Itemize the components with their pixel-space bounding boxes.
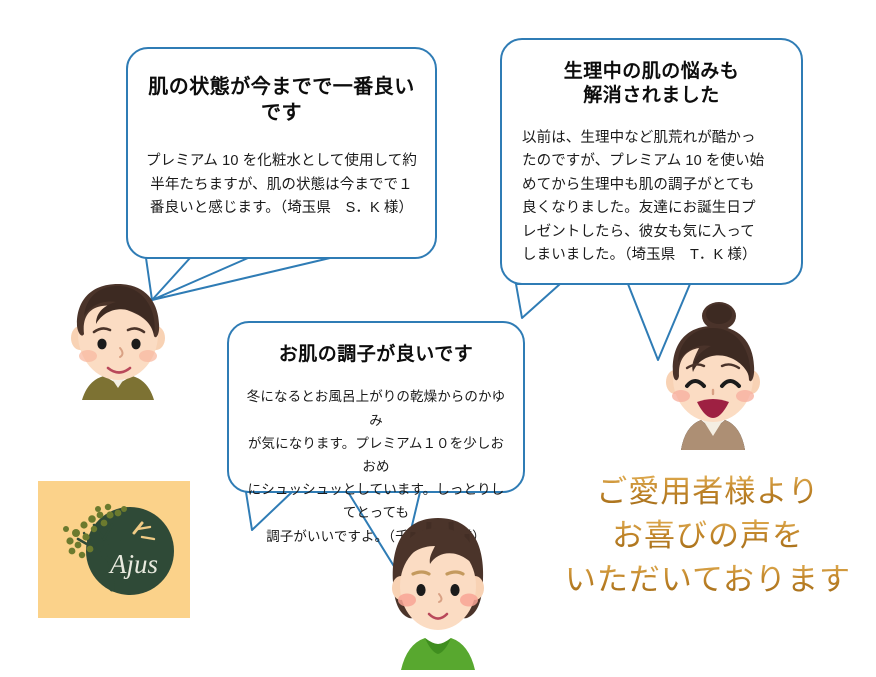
testimonial-body-female: 以前は、生理中など肌荒れが酷かっ たのですが、プレミアム 10 を使い始 めてか… [518, 127, 785, 268]
testimonial-body-male: プレミアム 10 を化粧水として使用して約 半年たちますが、肌の状態は今までで１… [146, 150, 417, 220]
girl-face-avatar [373, 512, 503, 672]
page-headline: ご愛用者様より お喜びの声を いただいております [548, 470, 868, 602]
testimonial-bubble-girl: お肌の調子が良いです 冬になるとお風呂上がりの乾燥からのかゆみ が気になります。… [227, 321, 525, 493]
testimonial-poster: 肌の状態が今までで一番良い です プレミアム 10 を化粧水として使用して約 半… [0, 0, 876, 677]
headline-line-3: いただいております [548, 558, 868, 602]
bubble-tail-1-long [152, 258, 330, 300]
bubble-tail-2 [516, 284, 560, 318]
woman-face-avatar [645, 292, 780, 452]
headline-line-1: ご愛用者様より [548, 470, 868, 514]
logo-wordmark: Ajus [108, 549, 158, 579]
testimonial-title-male: 肌の状態が今までで一番良い です [146, 75, 417, 126]
tree-in-circle-logo-icon: Ajus [38, 481, 190, 618]
testimonial-bubble-male: 肌の状態が今までで一番良い です プレミアム 10 を化粧水として使用して約 半… [126, 47, 437, 259]
testimonial-title-girl: お肌の調子が良いです [243, 343, 509, 367]
man-face-avatar [58, 272, 178, 402]
brand-logo: Ajus [38, 481, 190, 618]
headline-line-2: お喜びの声を [548, 514, 868, 558]
testimonial-bubble-female: 生理中の肌の悩みも 解消されました 以前は、生理中など肌荒れが酷かっ たのですが… [500, 38, 803, 285]
testimonial-title-female: 生理中の肌の悩みも 解消されました [518, 60, 785, 109]
